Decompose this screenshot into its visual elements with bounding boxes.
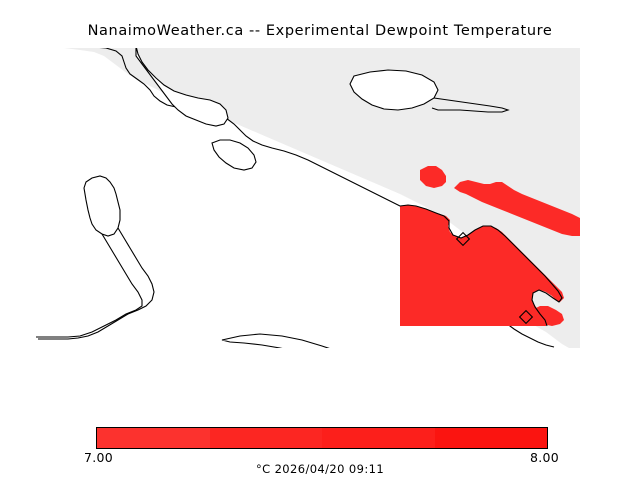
colorbar-container[interactable] (96, 427, 548, 449)
colorbar-segment-1 (97, 428, 210, 448)
map-svg[interactable] (34, 48, 580, 348)
map-canvas[interactable] (34, 48, 580, 348)
map-caption: °C 2026/04/20 09:11 (0, 462, 640, 476)
colorbar-segment-3 (322, 428, 435, 448)
colorbar-segment-4 (435, 428, 548, 448)
page-title: NanaimoWeather.ca -- Experimental Dewpoi… (0, 23, 640, 39)
weather-map-page: NanaimoWeather.ca -- Experimental Dewpoi… (0, 0, 640, 480)
colorbar[interactable] (96, 427, 548, 449)
colorbar-segment-2 (210, 428, 323, 448)
